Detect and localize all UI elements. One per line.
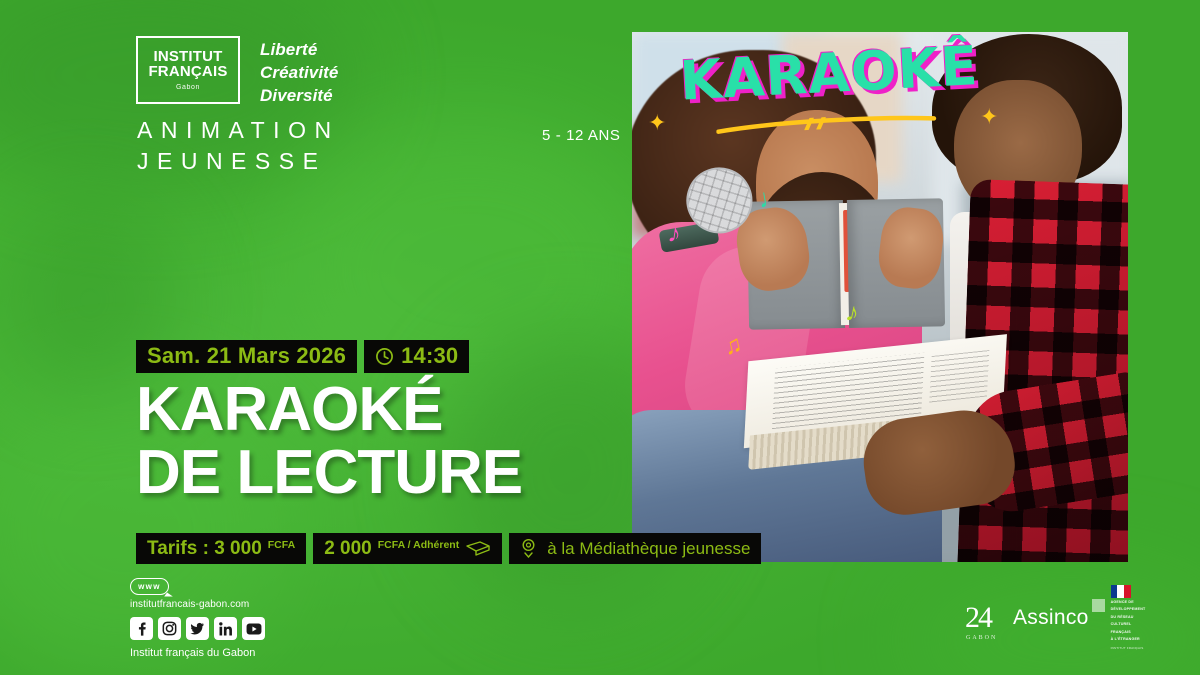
brand-header: INSTITUT FRANÇAIS Gabon Liberté Créativi… (136, 36, 338, 107)
logo-line-2: FRANÇAIS (148, 64, 227, 79)
page-name: Institut français du Gabon (130, 647, 265, 659)
footer: www institutfrancais-gabon.com (130, 578, 265, 659)
ticket-icon (465, 540, 491, 557)
youtube-icon[interactable] (242, 617, 265, 640)
brand-motto: Liberté Créativité Diversité (260, 36, 338, 107)
standard-price-badge: Tarifs : 3 000 FCFA (136, 533, 306, 564)
category-line-1: ANIMATION (137, 115, 340, 146)
agency-line-2: DÉVELOPPEMENT (1111, 607, 1146, 612)
sponsor-24-logo: 24 GABON (965, 603, 991, 633)
agency-line-4: CULTUREL (1111, 622, 1146, 627)
category-line-2: JEUNESSE (137, 146, 340, 177)
website-icon: www (130, 578, 169, 595)
event-date: Sam. 21 Mars 2026 (147, 345, 346, 367)
date-badge: Sam. 21 Mars 2026 (136, 340, 357, 373)
event-poster: INSTITUT FRANÇAIS Gabon Liberté Créativi… (0, 0, 1200, 675)
venue-name: à la Médiathèque jeunesse (547, 540, 750, 557)
sponsor-assinco-name: Assinco (1013, 606, 1089, 629)
sponsor-logos: 24 GABON Assinco AGENCE DE DÉVELOPPEMENT… (965, 585, 1145, 651)
agency-subtitle: Institut français (1111, 646, 1146, 651)
venue-badge: à la Médiathèque jeunesse (509, 533, 761, 564)
standard-price-currency: FCFA (268, 540, 295, 551)
logo-line-1: INSTITUT (153, 49, 222, 64)
flag-white (1117, 585, 1124, 598)
flag-blue (1111, 585, 1118, 598)
motto-line-3: Diversité (260, 85, 338, 108)
twitter-icon[interactable] (186, 617, 209, 640)
sponsor-assinco-logo: Assinco (1013, 606, 1089, 630)
sponsor-24-subtitle: GABON (966, 635, 997, 641)
www-label: www (138, 582, 161, 591)
event-photo: KARAOKÊ ✦ ✦ ♩ ♪ ♪ ♫ (632, 32, 1128, 562)
category-label: ANIMATION JEUNESSE (137, 115, 340, 176)
agency-line-6: À L'ÉTRANGER (1111, 637, 1146, 642)
french-flag-icon (1111, 585, 1131, 598)
sparkle-icon-right: ✦ (980, 104, 998, 130)
sponsor-24-number: 24 (965, 601, 991, 634)
agency-line-5: FRANÇAIS (1111, 630, 1146, 635)
sparkle-icon-left: ✦ (648, 110, 666, 136)
institut-francais-logo: INSTITUT FRANÇAIS Gabon (136, 36, 240, 104)
title-line-1: KARAOKÉ (136, 378, 522, 441)
sponsor-french-agency-logo: AGENCE DE DÉVELOPPEMENT DU RÉSEAU CULTUR… (1111, 585, 1146, 651)
open-book-text-right (929, 350, 989, 403)
pricing-venue-row: Tarifs : 3 000 FCFA 2 000 FCFA / Adhéren… (136, 533, 761, 564)
agency-line-3: DU RÉSEAU (1111, 615, 1146, 620)
linkedin-icon[interactable] (214, 617, 237, 640)
title-line-2: DE LECTURE (136, 441, 522, 504)
facebook-icon[interactable] (130, 617, 153, 640)
member-price-badge: 2 000 FCFA / Adhérent (313, 533, 502, 564)
motto-line-2: Créativité (260, 62, 338, 85)
music-note-icon-1: ♩ (756, 180, 787, 215)
clock-icon (375, 347, 394, 366)
motto-line-1: Liberté (260, 39, 338, 62)
flag-red (1124, 585, 1131, 598)
location-pin-icon (520, 538, 537, 558)
member-price-currency: FCFA / Adhérent (378, 540, 459, 551)
event-time: 14:30 (401, 345, 458, 367)
standard-price-label: Tarifs : 3 000 (147, 539, 262, 558)
member-price-value: 2 000 (324, 539, 372, 558)
time-badge: 14:30 (364, 340, 469, 373)
instagram-icon[interactable] (158, 617, 181, 640)
page-title: KARAOKÉ DE LECTURE (136, 378, 522, 504)
sponsor-assinco-mark (1092, 599, 1105, 612)
website-url[interactable]: institutfrancais-gabon.com (130, 599, 265, 610)
social-links (130, 617, 265, 640)
logo-country: Gabon (176, 84, 200, 91)
agency-line-1: AGENCE DE (1111, 600, 1146, 605)
date-time-row: Sam. 21 Mars 2026 14:30 (136, 340, 469, 373)
age-range-label: 5 - 12 ANS (542, 127, 621, 144)
